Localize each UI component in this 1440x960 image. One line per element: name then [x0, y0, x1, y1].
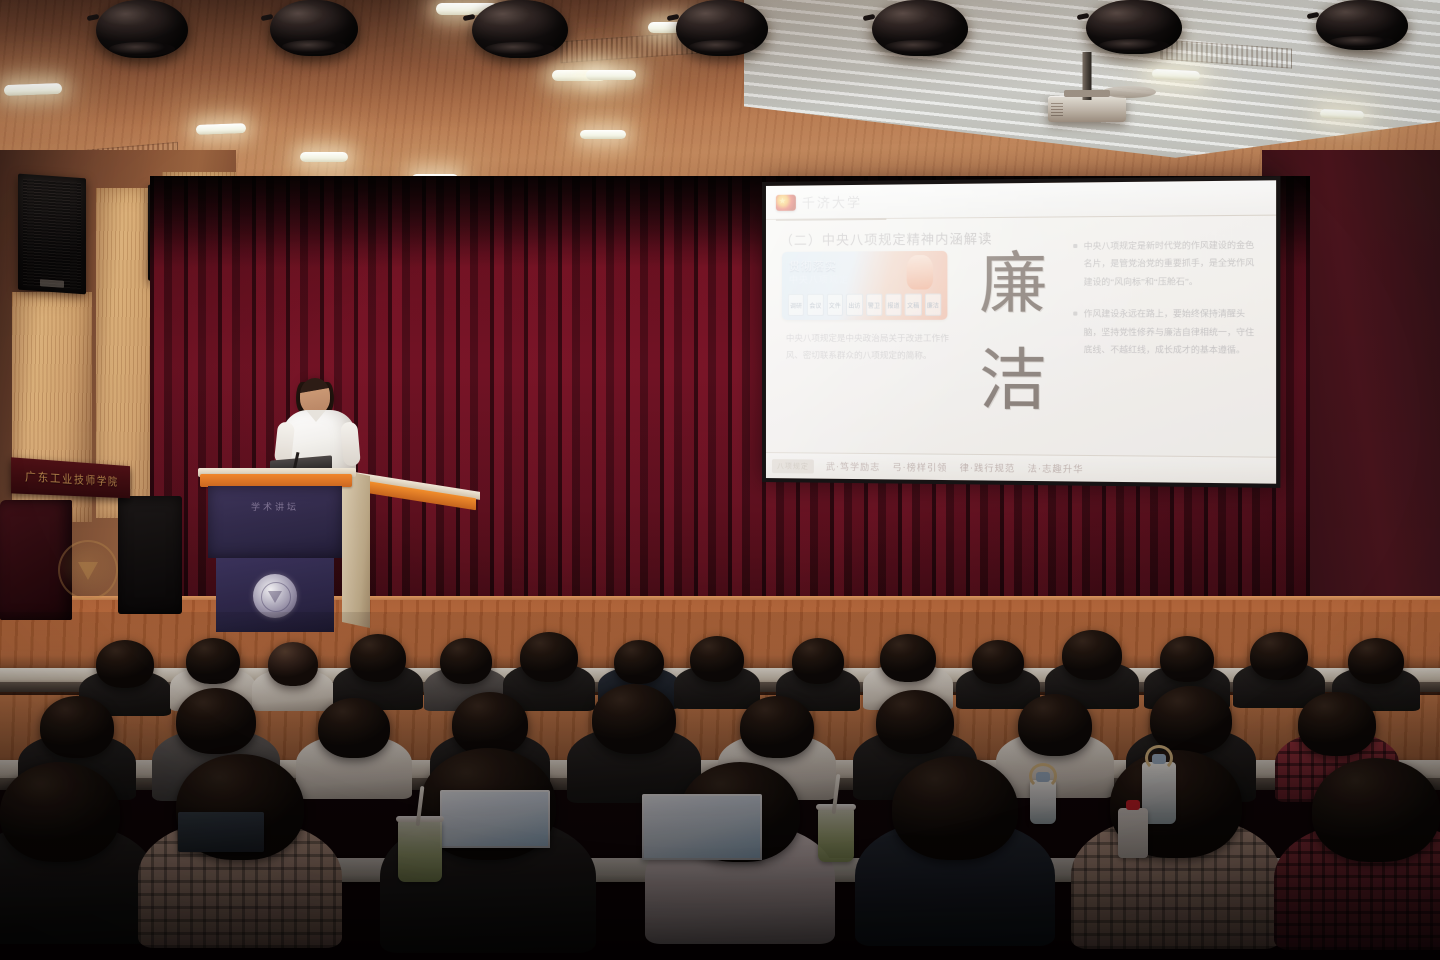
lectern-front-panel: 学术讲坛	[208, 486, 342, 558]
projector-vent	[1051, 102, 1063, 116]
slide-header-rule	[776, 218, 886, 221]
ceiling-light	[4, 83, 62, 96]
audience-person-head	[186, 638, 240, 684]
party-emblem-icon	[776, 194, 796, 210]
audience-person-head	[318, 698, 390, 758]
audience-person-head	[520, 632, 578, 682]
lectern: 学术讲坛	[198, 474, 366, 632]
slide-right-bullets: 中央八项规定是新时代党的作风建设的金色名片，是管党治党的重要抓手，是全党作风建设…	[1073, 237, 1259, 375]
floor-speaker	[118, 496, 182, 614]
audience-person-head	[792, 638, 844, 684]
laptop-screen	[442, 792, 548, 846]
lectern-text: 学术讲坛	[251, 500, 299, 513]
wall-seal-emblem	[58, 540, 118, 600]
audience-person-head	[1150, 686, 1232, 754]
audience-person-head	[1160, 636, 1214, 682]
ceiling-light	[196, 123, 246, 135]
ceiling-light	[586, 70, 636, 80]
slide-footer: 八项规定 武·笃学励志 弓·榜样引领 律·践行规范 法·志趣升华	[766, 452, 1276, 484]
audience-person-head	[1250, 632, 1308, 680]
audience-person-head	[452, 692, 528, 756]
infographic-card: 会议	[807, 294, 823, 316]
infographic-card: 调研	[788, 294, 804, 316]
presenter-arm-right	[340, 421, 361, 466]
audience-person-head	[1018, 694, 1092, 756]
tablet	[178, 812, 264, 852]
calligraphy-char-lian: 廉	[979, 254, 1047, 315]
calligraphy-char-jie: 洁	[979, 351, 1047, 412]
footer-item: 法·志趣升华	[1028, 462, 1084, 476]
slide-title: （二）中央八项规定精神内涵解读	[780, 228, 993, 249]
slide-infographic: 贯彻落实 中央八项规定 调研 会议 文件 出访 警卫 报道 文稿 廉洁	[782, 251, 947, 320]
infographic-card: 出访	[846, 294, 862, 316]
slide-header: 千济大学	[766, 180, 1276, 220]
audience-person-head	[440, 638, 492, 684]
stage-light	[676, 0, 768, 56]
stage-light	[1086, 0, 1182, 54]
audience-person-head	[892, 756, 1018, 860]
bubble-tea-cup	[398, 820, 442, 882]
slide-bullet-1: 中央八项规定是新时代党的作风建设的金色名片，是管党治党的重要抓手，是全党作风建设…	[1073, 237, 1259, 292]
audience-person-head	[1312, 758, 1440, 862]
projection-screen: 千济大学 （二）中央八项规定精神内涵解读 贯彻落实 中央八项规定 调研 会议 文…	[766, 180, 1276, 483]
audience-person-head	[176, 688, 256, 754]
audience-person-head	[1062, 630, 1122, 680]
footer-item: 弓·榜样引领	[892, 460, 947, 474]
audience	[0, 612, 1440, 960]
ceiling-light	[300, 152, 348, 162]
ceiling-projector	[1048, 96, 1126, 122]
infographic-figure	[907, 255, 933, 290]
audience-person-head	[972, 640, 1024, 684]
audience-person-head	[0, 762, 120, 862]
thermos-bottle	[1118, 808, 1148, 858]
infographic-card: 廉洁	[925, 293, 942, 315]
infographic-card: 警卫	[866, 294, 883, 316]
stage-light	[1316, 0, 1408, 50]
wall-speaker	[18, 174, 86, 295]
audience-person-head	[880, 634, 936, 682]
bottle-handle	[1029, 763, 1057, 789]
infographic-card: 文稿	[905, 294, 922, 316]
infographic-subhead: 中央八项规定	[789, 273, 849, 286]
audience-person-head	[592, 684, 676, 754]
slide-left-bullet: 中央八项规定是中央政治局关于改进工作作风、密切联系群众的八项规定的简称。	[786, 330, 956, 364]
bottle-cap	[1126, 800, 1140, 810]
water-bottle	[1030, 780, 1056, 824]
audience-person-head	[1298, 692, 1376, 756]
stage-light	[270, 0, 358, 56]
bottle-handle	[1145, 745, 1173, 771]
audience-person-head	[268, 642, 318, 686]
audience-person-head	[96, 640, 154, 688]
ceiling-dome-light	[1102, 86, 1156, 98]
audience-person-head	[690, 636, 744, 682]
lecture-hall-photo: 千济大学 （二）中央八项规定精神内涵解读 贯彻落实 中央八项规定 调研 会议 文…	[0, 0, 1440, 960]
audience-person-head	[1348, 638, 1404, 684]
presenter-head	[300, 378, 330, 414]
ceiling-light	[580, 130, 626, 139]
footer-item: 律·践行规范	[960, 461, 1016, 475]
stage-light	[472, 0, 568, 58]
slide-bullet-2: 作风建设永远在路上，要始终保持清醒头脑，坚持党性修养与廉洁自律相统一，守住底线、…	[1073, 305, 1259, 359]
footer-chip: 八项规定	[772, 459, 814, 473]
laptop	[440, 790, 550, 848]
audience-person-head	[350, 634, 406, 682]
infographic-card: 文件	[827, 294, 843, 316]
lectern-side-panel	[342, 470, 370, 628]
footer-item: 武·笃学励志	[826, 460, 880, 474]
audience-person-head	[740, 696, 814, 758]
audience-person-head	[40, 696, 114, 758]
slide-school-name: 千济大学	[802, 192, 862, 212]
infographic-card: 报道	[885, 294, 902, 316]
laptop-screen	[644, 796, 760, 858]
projector-mount-plate	[1064, 90, 1110, 97]
audience-person-head	[876, 690, 954, 754]
audience-person-head	[614, 640, 664, 684]
infographic-headline: 贯彻落实	[789, 258, 837, 274]
infographic-card-row: 调研 会议 文件 出访 警卫 报道 文稿 廉洁	[788, 293, 941, 315]
laptop	[642, 794, 762, 860]
venue-wall-sign-text: 广东工业技师学院	[25, 468, 119, 489]
projection-screen-frame: 千济大学 （二）中央八项规定精神内涵解读 贯彻落实 中央八项规定 调研 会议 文…	[762, 176, 1280, 488]
slide-calligraphy: 廉 洁	[964, 236, 1063, 430]
stage-light	[96, 0, 188, 58]
bubble-tea-cup	[818, 808, 854, 862]
stage-light	[872, 0, 968, 56]
